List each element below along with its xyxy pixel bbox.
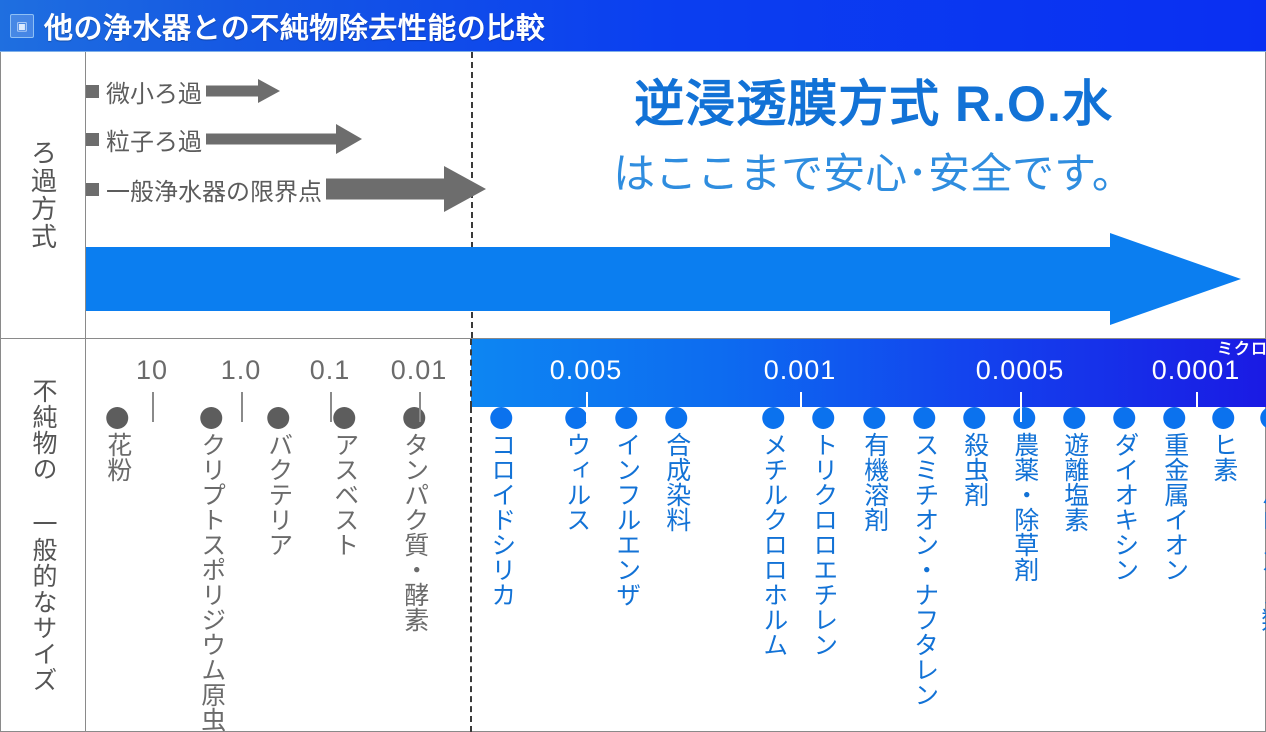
impurity-item: ダイオキシン: [1111, 407, 1137, 582]
arrow-head: [444, 166, 486, 212]
scale-tick-mark: [152, 392, 154, 422]
impurity-threshold-divider: [470, 407, 472, 732]
impurity-label: 殺虫剤: [961, 432, 987, 507]
bullet-dot-icon: [812, 407, 834, 429]
bullet-dot-icon: [267, 407, 289, 429]
impurity-label: ヒ素: [1210, 432, 1236, 482]
bullet-dot-icon: [1260, 407, 1266, 429]
impurity-label: メチルクロロホルム: [760, 432, 786, 657]
headline-line-2: はここまで安心･安全です。: [486, 140, 1261, 201]
impurity-item: 遊離塩素: [1061, 407, 1087, 532]
impurity-label: 農薬・除草剤: [1011, 432, 1037, 582]
impurity-item: 有機溶剤: [861, 407, 887, 532]
impurity-item: スミチオン・ナフタレン: [911, 407, 937, 707]
size-section-caption: 不純物の 一般的なサイズ: [1, 339, 85, 732]
filtration-pane: 微小ろ過粒子ろ過一般浄水器の限界点 逆浸透膜方式 R.O.水 はここまで安心･安…: [86, 52, 1266, 338]
impurity-item: 重金属イオン: [1161, 407, 1187, 582]
bullet-dot-icon: [200, 407, 222, 429]
impurity-label: タンパク質・酵素: [401, 432, 427, 632]
size-scale-pane: 101.00.10.010.0050.0010.00050.0001 ミクロン …: [86, 339, 1266, 732]
impurity-label: 有機溶剤: [861, 432, 887, 532]
filtration-method-label: 一般浄水器の限界点: [106, 172, 322, 207]
impurity-label: 花粉: [104, 432, 130, 482]
impurity-item: トリハロメタン類: [1258, 407, 1266, 632]
scale-tick-mark: [330, 392, 332, 422]
bullet-dot-icon: [1113, 407, 1135, 429]
ro-range-arrow-head: [1110, 233, 1241, 325]
impurity-item: クリプトスポリジウム原虫: [198, 407, 224, 732]
bullet-dot-icon: [1063, 407, 1085, 429]
impurity-item: ヒ素: [1210, 407, 1236, 482]
arrow-head: [258, 79, 280, 103]
window-glyph-icon: ▣: [10, 14, 34, 38]
arrow-shaft: [206, 134, 336, 145]
scale-tick-mark: [586, 392, 588, 422]
scale-tick-label: 0.1: [310, 355, 351, 386]
bullet-dot-icon: [1212, 407, 1234, 429]
page-title: 他の浄水器との不純物除去性能の比較: [44, 5, 545, 47]
impurity-label: ダイオキシン: [1111, 432, 1137, 582]
impurity-label: コロイドシリカ: [488, 432, 514, 607]
impurity-item: アスベスト: [331, 407, 357, 557]
impurity-item: 農薬・除草剤: [1011, 407, 1037, 582]
bullet-square-icon: [86, 85, 99, 98]
bullet-dot-icon: [490, 407, 512, 429]
bullet-dot-icon: [665, 407, 687, 429]
impurity-item: バクテリア: [265, 407, 291, 557]
ro-range-arrow: [86, 233, 1266, 325]
impurity-label: 合成染料: [663, 432, 689, 532]
bullet-dot-icon: [1013, 407, 1035, 429]
impurity-list: 花粉クリプトスポリジウム原虫バクテリアアスベストタンパク質・酵素コロイドシリカウ…: [86, 407, 1266, 732]
title-bar: ▣ 他の浄水器との不純物除去性能の比較: [0, 0, 1266, 52]
impurity-label: トリクロロエチレン: [810, 432, 836, 657]
bullet-square-icon: [86, 183, 99, 196]
arrow-shaft: [206, 86, 258, 97]
filtration-method-label: 微小ろ過: [106, 74, 202, 109]
impurity-item: 合成染料: [663, 407, 689, 532]
bullet-dot-icon: [106, 407, 128, 429]
scale-tick-mark: [419, 392, 421, 422]
micron-scale-bar: 101.00.10.010.0050.0010.00050.0001 ミクロン: [86, 339, 1266, 407]
ro-range-arrow-shaft: [86, 247, 1111, 311]
impurity-label: クリプトスポリジウム原虫: [198, 432, 224, 732]
filtration-section-caption: ろ過方式: [1, 52, 85, 338]
impurity-item: 殺虫剤: [961, 407, 987, 507]
scale-tick-label: 0.001: [764, 355, 837, 386]
impurity-item: コロイドシリカ: [488, 407, 514, 607]
impurity-label: アスベスト: [331, 432, 357, 557]
comparison-chart-page: ▣ 他の浄水器との不純物除去性能の比較 ろ過方式 不純物の 一般的なサイズ 微小…: [0, 0, 1266, 732]
arrow-shaft: [326, 179, 444, 200]
impurity-item: メチルクロロホルム: [760, 407, 786, 657]
scale-tick-label: 10: [136, 355, 168, 386]
scale-tick-label: 0.005: [550, 355, 623, 386]
scale-threshold-divider: [470, 339, 472, 407]
bullet-dot-icon: [1163, 407, 1185, 429]
micron-unit-label: ミクロン: [1217, 335, 1266, 359]
filtration-method-row: 一般浄水器の限界点: [86, 172, 486, 206]
scale-tick-mark: [1020, 392, 1022, 422]
impurity-item: インフルエンザ: [613, 407, 639, 607]
bullet-dot-icon: [403, 407, 425, 429]
bullet-dot-icon: [963, 407, 985, 429]
bullet-dot-icon: [565, 407, 587, 429]
scale-tick-label: 0.01: [391, 355, 448, 386]
headline-line-1: 逆浸透膜方式 R.O.水: [486, 64, 1261, 136]
bullet-square-icon: [86, 133, 99, 146]
impurity-label: トリハロメタン類: [1258, 432, 1266, 632]
bullet-dot-icon: [863, 407, 885, 429]
impurity-label: 遊離塩素: [1061, 432, 1087, 532]
impurity-item: 花粉: [104, 407, 130, 482]
impurity-label: 重金属イオン: [1161, 432, 1187, 582]
impurity-item: トリクロロエチレン: [810, 407, 836, 657]
arrow-head: [336, 124, 362, 154]
scale-tick-mark: [241, 392, 243, 422]
bullet-dot-icon: [762, 407, 784, 429]
filtration-method-row: 粒子ろ過: [86, 122, 362, 156]
scale-tick-mark: [1196, 392, 1198, 422]
bullet-dot-icon: [615, 407, 637, 429]
filtration-method-label: 粒子ろ過: [106, 122, 202, 157]
bullet-dot-icon: [913, 407, 935, 429]
impurity-label: スミチオン・ナフタレン: [911, 432, 937, 707]
bullet-dot-icon: [333, 407, 355, 429]
scale-tick-label: 0.0005: [976, 355, 1065, 386]
impurity-label: バクテリア: [265, 432, 291, 557]
impurity-label: インフルエンザ: [613, 432, 639, 607]
scale-tick-label: 1.0: [221, 355, 262, 386]
impurity-item: ウィルス: [563, 407, 589, 532]
impurity-item: タンパク質・酵素: [401, 407, 427, 632]
chart-frame: ろ過方式 不純物の 一般的なサイズ 微小ろ過粒子ろ過一般浄水器の限界点 逆浸透膜…: [0, 52, 1266, 732]
impurity-label: ウィルス: [563, 432, 589, 532]
scale-tick-mark: [800, 392, 802, 422]
headline-block: 逆浸透膜方式 R.O.水 はここまで安心･安全です。: [486, 64, 1261, 201]
filtration-method-row: 微小ろ過: [86, 74, 280, 108]
scale-tick-label: 0.0001: [1152, 355, 1241, 386]
